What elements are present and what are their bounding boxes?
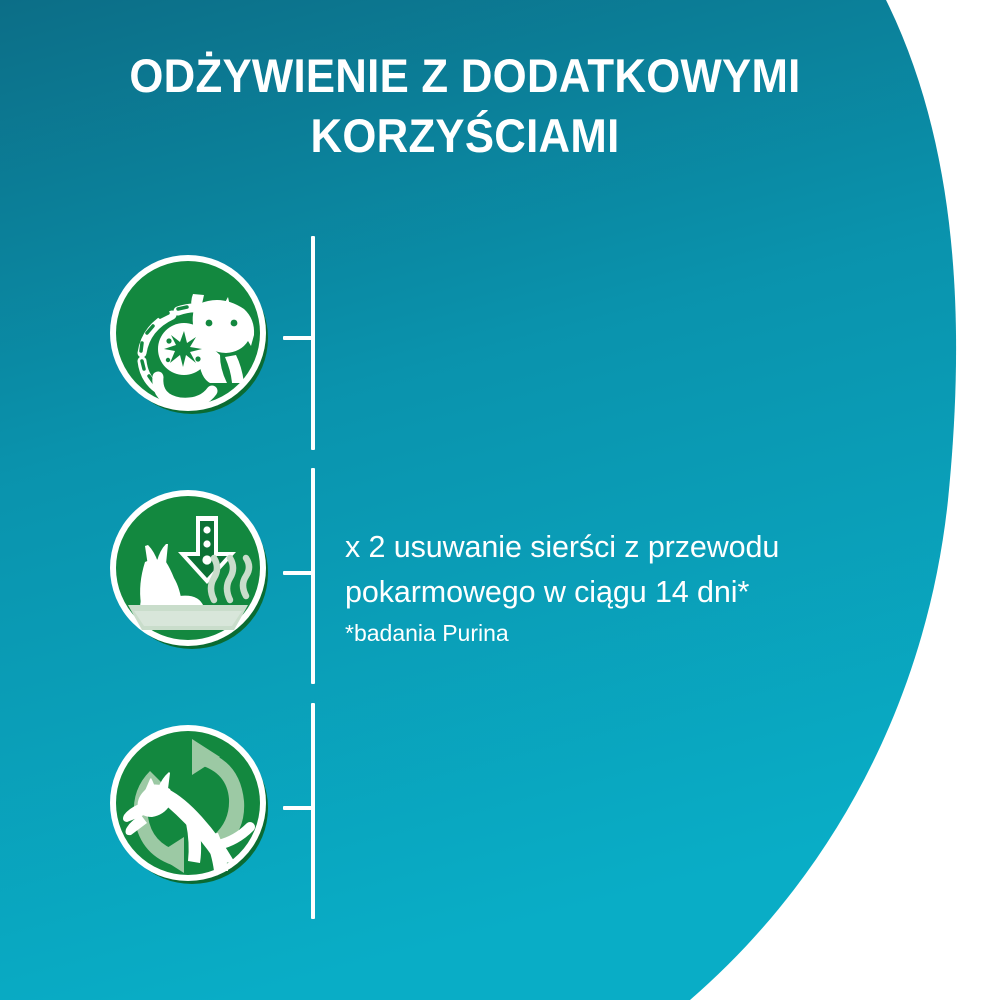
connector-line-3 [311,703,315,919]
cat-litter-box-odour-icon [108,488,270,652]
connector-line-2 [311,468,315,684]
cat-jumping-fit-icon [108,723,270,887]
connector-tick-1 [283,336,313,340]
benefit-row-3: Szczupła i zdrowa sylwetka [0,723,1000,893]
benefit-row-1: x 2 usuwanie sierści z przewodu pokarmow… [0,253,1000,423]
cat-hairball-icon [108,253,270,417]
page-title-line-2: KORZYŚCIAMI [88,106,841,166]
benefit-text-1: x 2 usuwanie sierści z przewodu pokarmow… [345,525,905,649]
benefit-1-main-line-1: x 2 usuwanie sierści z przewodu [345,525,905,570]
benefit-text-2: Zwarte odchody o ograniczonym o 24%* zap… [345,993,905,1000]
infographic-canvas: ODŻYWIENIE Z DODATKOWYMI KORZYŚCIAMI [0,0,1000,1000]
page-title: ODŻYWIENIE Z DODATKOWYMI KORZYŚCIAMI [60,46,870,166]
connector-line-1 [311,236,315,450]
benefit-2-main-line-1: Zwarte odchody o ograniczonym [345,993,905,1000]
page-title-line-1: ODŻYWIENIE Z DODATKOWYMI [88,46,841,106]
connector-tick-3 [283,806,313,810]
benefit-1-note: *badania Purina [345,618,905,649]
connector-tick-2 [283,571,313,575]
benefit-1-main-line-2: pokarmowego w ciągu 14 dni* [345,570,905,615]
